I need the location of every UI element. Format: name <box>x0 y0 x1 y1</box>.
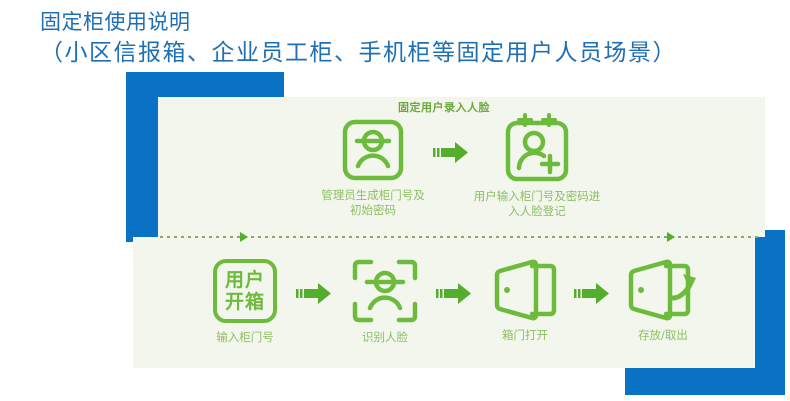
page-title-line-1: 固定柜使用说明 <box>40 8 780 36</box>
flow-step-door-opens[interactable]: 箱门打开 <box>470 258 580 343</box>
page-title: 固定柜使用说明 （小区信报箱、企业员工柜、手机柜等固定用户人员场景） <box>40 8 780 68</box>
open-door-with-out-arrow-icon <box>608 258 718 322</box>
flow-step-label: 存放/取出 <box>608 328 718 343</box>
user-open-box-text-icon: 用户 开箱 <box>190 258 300 324</box>
page-title-line-2: （小区信报箱、企业员工柜、手机柜等固定用户人员场景） <box>40 38 780 68</box>
right-arrow-icon <box>435 278 475 308</box>
right-triangle-marker-icon <box>667 232 675 242</box>
flow-step-label: 箱门打开 <box>470 328 580 343</box>
person-in-box-icon <box>318 118 428 182</box>
flow-step-store-or-take[interactable]: 存放/取出 <box>608 258 718 343</box>
flow-step-label: 用户输入柜门号及密码进入人脸登记 <box>472 189 602 219</box>
flow-step-admin-generate[interactable]: 管理员生成柜门号及初始密码 <box>318 118 428 218</box>
right-triangle-marker-icon <box>240 232 248 242</box>
open-door-icon <box>470 258 580 322</box>
box-icon-text-line-1: 用户 <box>212 269 278 291</box>
flow-step-recognize-face[interactable]: 识别人脸 <box>330 258 440 345</box>
flow-step-input-locker-number[interactable]: 用户 开箱 输入柜门号 <box>190 258 300 345</box>
flow-step-user-enroll[interactable]: 用户输入柜门号及密码进入人脸登记 <box>472 113 602 219</box>
right-arrow-icon <box>295 278 335 308</box>
right-arrow-icon <box>573 278 613 308</box>
flow-step-label: 输入柜门号 <box>190 330 300 345</box>
face-scan-frame-icon <box>330 258 440 324</box>
id-card-person-plus-icon <box>472 113 602 183</box>
box-icon-text-line-2: 开箱 <box>212 291 278 313</box>
flow-step-label: 管理员生成柜门号及初始密码 <box>318 188 428 218</box>
right-arrow-icon <box>432 137 472 167</box>
flow-step-label: 识别人脸 <box>330 330 440 345</box>
